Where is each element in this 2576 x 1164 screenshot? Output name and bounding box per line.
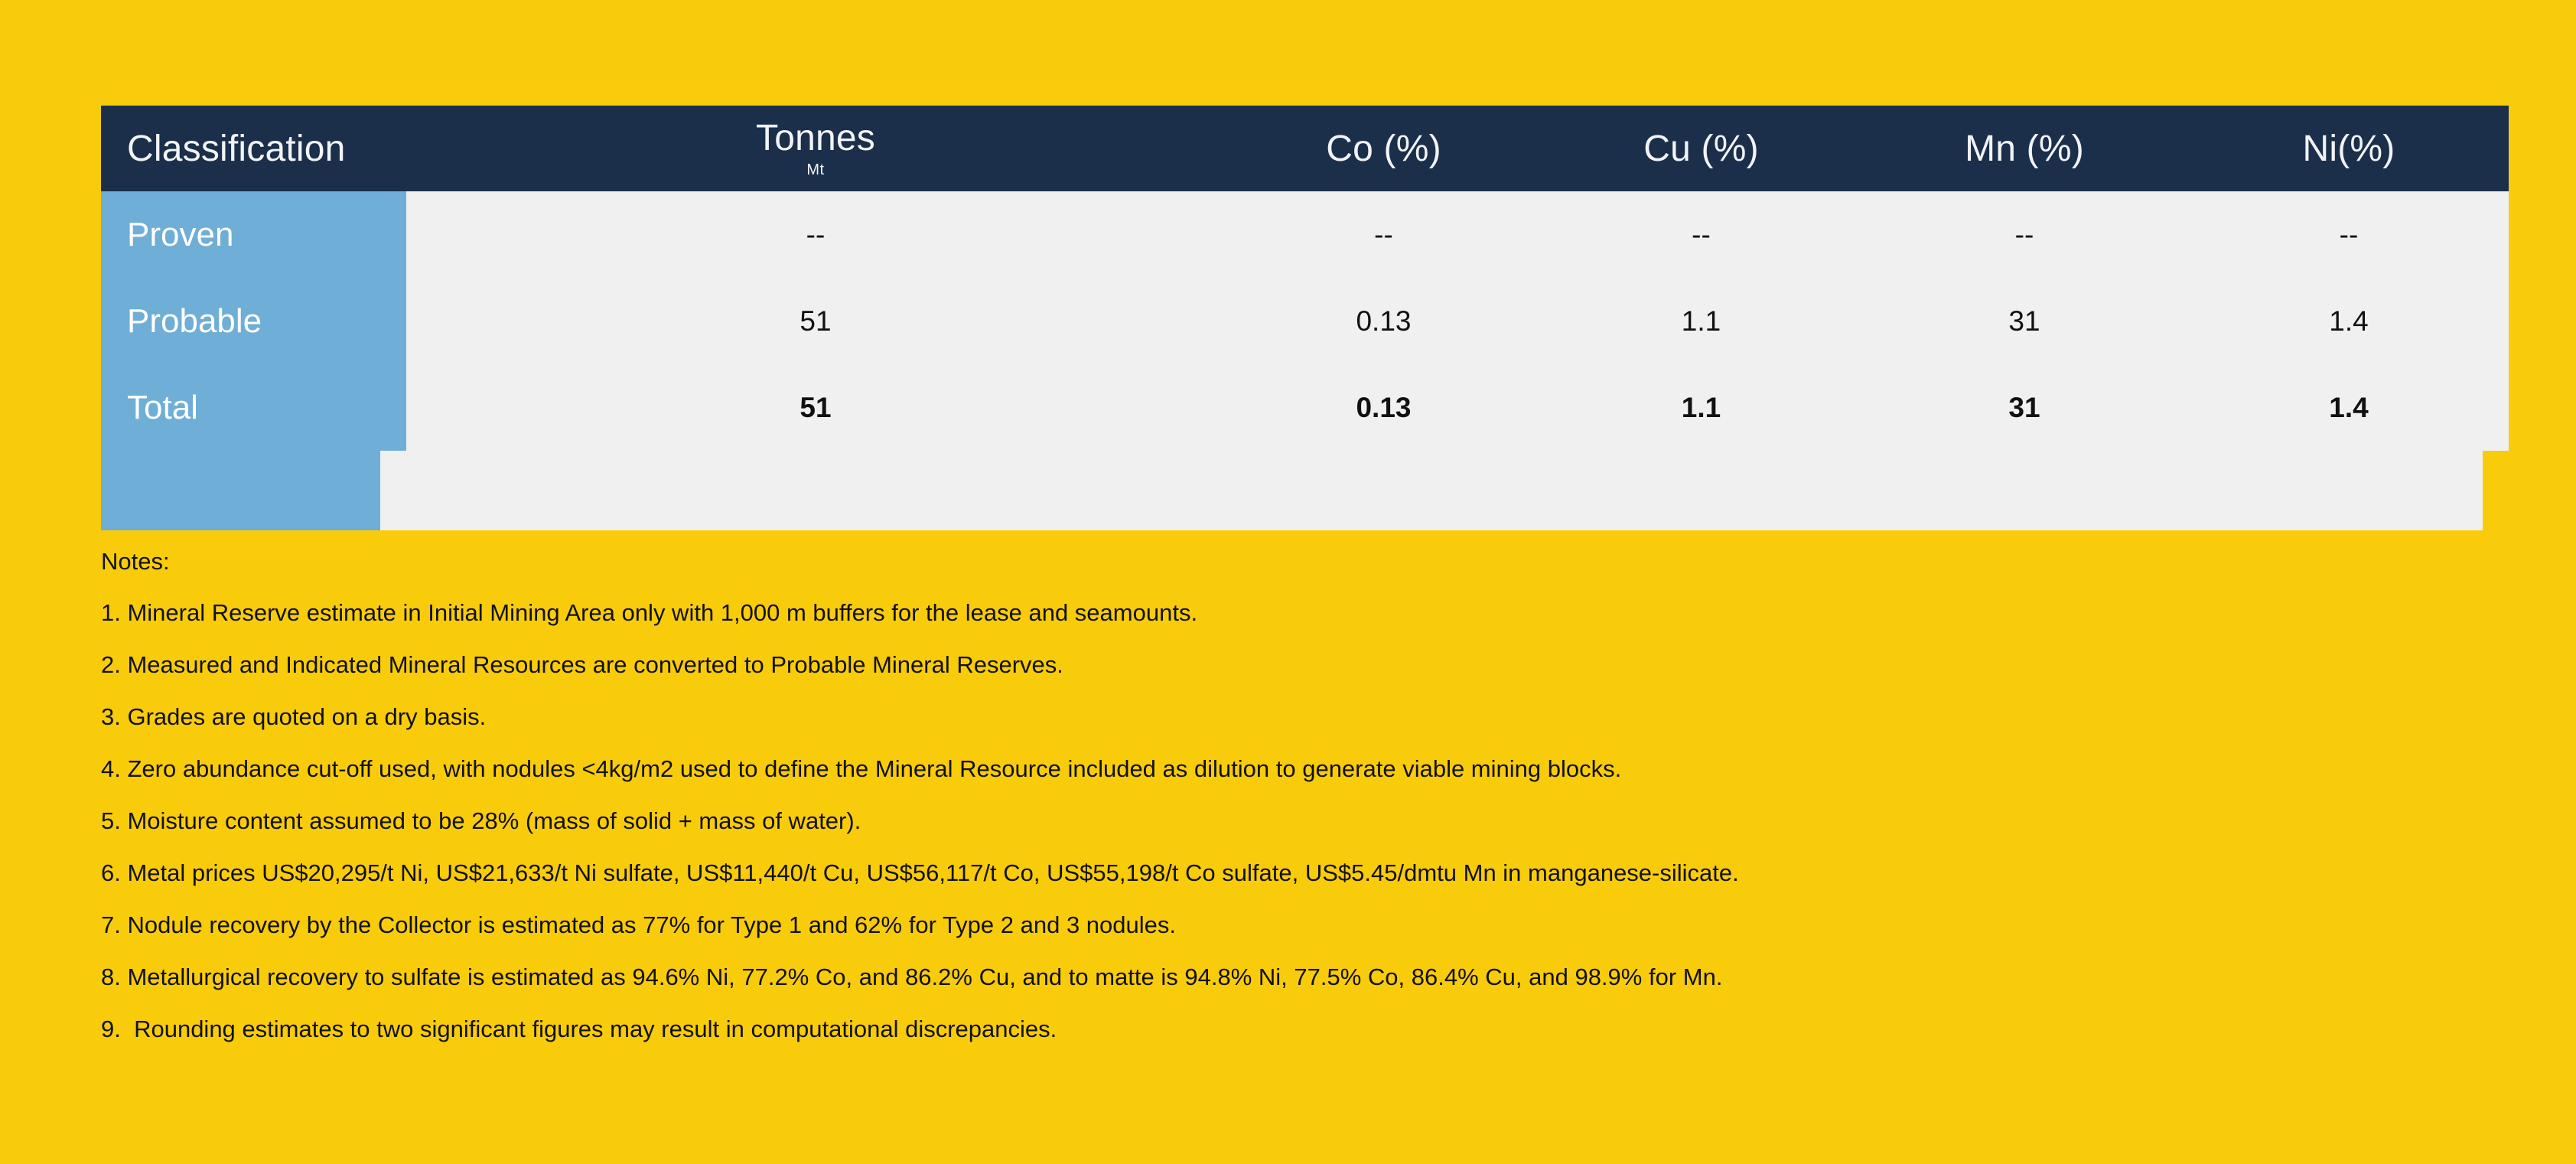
- note-item: 2. Measured and Indicated Mineral Resour…: [101, 653, 2473, 677]
- column-header-classification: Classification: [101, 106, 406, 191]
- table-row: Proven -- -- -- -- --: [101, 191, 2509, 278]
- cell-cobalt: 0.13: [1225, 278, 1542, 364]
- column-header-tonnes: Tonnes Mt: [406, 106, 1225, 191]
- cell-classification: Probable: [101, 278, 406, 364]
- cell-copper: 1.1: [1542, 364, 1860, 451]
- cell-cobalt: --: [1225, 191, 1542, 278]
- note-item: 1. Mineral Reserve estimate in Initial M…: [101, 601, 2473, 624]
- mineral-reserve-table-container: Classification Tonnes Mt Co (%) Cu (%): [101, 106, 2483, 530]
- column-header-copper-label: Cu (%): [1643, 129, 1759, 169]
- column-header-copper: Cu (%): [1542, 106, 1860, 191]
- table-body: Proven -- -- -- -- -- Probable 51 0.13 1…: [101, 191, 2509, 451]
- cell-tonnes: 51: [406, 364, 1225, 451]
- column-header-nickel-label: Ni(%): [2303, 129, 2395, 169]
- note-item: 4. Zero abundance cut-off used, with nod…: [101, 757, 2473, 781]
- mineral-reserve-table-page: Classification Tonnes Mt Co (%) Cu (%): [0, 0, 2576, 1164]
- cell-copper: --: [1542, 191, 1860, 278]
- column-header-tonnes-label: Tonnes: [756, 120, 875, 157]
- note-item: 7. Nodule recovery by the Collector is e…: [101, 913, 2473, 937]
- cell-manganese: 31: [1860, 278, 2189, 364]
- cell-tonnes: 51: [406, 278, 1225, 364]
- column-header-manganese-label: Mn (%): [1965, 129, 2084, 169]
- table-row-total: Total 51 0.13 1.1 31 1.4: [101, 364, 2509, 451]
- table-footer-classification-block: [101, 451, 380, 530]
- table-header-row: Classification Tonnes Mt Co (%) Cu (%): [101, 106, 2509, 191]
- cell-cobalt: 0.13: [1225, 364, 1542, 451]
- cell-classification: Proven: [101, 191, 406, 278]
- column-header-classification-label: Classification: [127, 129, 346, 169]
- cell-nickel: --: [2189, 191, 2509, 278]
- note-item: 9. Rounding estimates to two significant…: [101, 1017, 2473, 1041]
- table-row: Probable 51 0.13 1.1 31 1.4: [101, 278, 2509, 364]
- cell-classification: Total: [101, 364, 406, 451]
- note-item: 6. Metal prices US$20,295/t Ni, US$21,63…: [101, 861, 2473, 885]
- cell-manganese: 31: [1860, 364, 2189, 451]
- cell-tonnes: --: [406, 191, 1225, 278]
- column-header-cobalt: Co (%): [1225, 106, 1542, 191]
- column-header-nickel: Ni(%): [2189, 106, 2509, 191]
- table-header: Classification Tonnes Mt Co (%) Cu (%): [101, 106, 2509, 191]
- table-footer-values-block: [380, 451, 2483, 530]
- table-footer-strip: [101, 451, 2483, 530]
- column-header-tonnes-stack: Tonnes Mt: [406, 120, 1225, 178]
- note-item: 3. Grades are quoted on a dry basis.: [101, 705, 2473, 729]
- column-header-tonnes-unit: Mt: [806, 162, 824, 178]
- column-header-cobalt-label: Co (%): [1326, 129, 1441, 169]
- note-item: 8. Metallurgical recovery to sulfate is …: [101, 965, 2473, 989]
- cell-manganese: --: [1860, 191, 2189, 278]
- cell-copper: 1.1: [1542, 278, 1860, 364]
- cell-nickel: 1.4: [2189, 278, 2509, 364]
- note-item: 5. Moisture content assumed to be 28% (m…: [101, 809, 2473, 833]
- mineral-reserve-table: Classification Tonnes Mt Co (%) Cu (%): [101, 106, 2509, 451]
- notes-section: Notes: 1. Mineral Reserve estimate in In…: [101, 549, 2473, 1069]
- cell-nickel: 1.4: [2189, 364, 2509, 451]
- column-header-manganese: Mn (%): [1860, 106, 2189, 191]
- notes-title: Notes:: [101, 549, 2473, 573]
